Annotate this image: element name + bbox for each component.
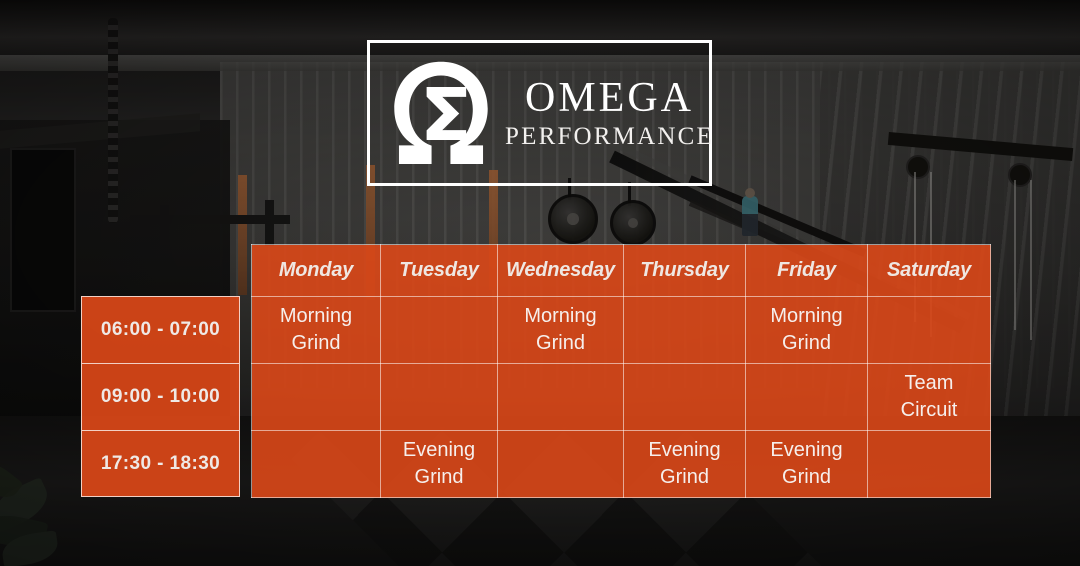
day-header-thursday: Thursday: [624, 245, 746, 297]
day-header-friday: Friday: [746, 245, 868, 297]
day-header-monday: Monday: [252, 245, 381, 297]
time-slot-cell: 06:00 - 07:00: [81, 296, 240, 363]
schedule-cell: Team Circuit: [868, 364, 991, 431]
schedule-cell: Evening Grind: [381, 431, 498, 498]
class-name: Morning Grind: [252, 303, 380, 357]
schedule-cell: Morning Grind: [252, 297, 381, 364]
class-name: Morning Grind: [746, 303, 867, 357]
time-slot-cell: 09:00 - 10:00: [81, 363, 240, 430]
schedule-cell: [252, 431, 381, 498]
schedule-cell: Evening Grind: [746, 431, 868, 498]
brand-name: OMEGA: [525, 77, 694, 119]
omega-sigma-icon: [387, 60, 495, 166]
table-row: Evening Grind Evening Grind Evening Grin…: [252, 431, 991, 498]
table-header-row: Monday Tuesday Wednesday Thursday Friday…: [252, 245, 991, 297]
class-schedule-table: Monday Tuesday Wednesday Thursday Friday…: [251, 244, 991, 498]
schedule-cell: [252, 364, 381, 431]
day-header-saturday: Saturday: [868, 245, 991, 297]
time-slot-cell: 17:30 - 18:30: [81, 430, 240, 497]
poster-canvas: OMEGA PERFORMANCE 06:00 - 07:00 09:00 - …: [0, 0, 1080, 566]
schedule-cell: Morning Grind: [498, 297, 624, 364]
class-name: Evening Grind: [624, 437, 745, 491]
table-row: Team Circuit: [252, 364, 991, 431]
class-name: Morning Grind: [498, 303, 623, 357]
schedule-cell: [868, 297, 991, 364]
time-slot-column: 06:00 - 07:00 09:00 - 10:00 17:30 - 18:3…: [81, 296, 240, 497]
day-header-tuesday: Tuesday: [381, 245, 498, 297]
day-header-wednesday: Wednesday: [498, 245, 624, 297]
schedule-cell: Morning Grind: [746, 297, 868, 364]
class-name: Evening Grind: [746, 437, 867, 491]
brand-logo-frame: OMEGA PERFORMANCE: [367, 40, 712, 186]
schedule-cell: [381, 364, 498, 431]
class-name: Evening Grind: [381, 437, 497, 491]
schedule-cell: [624, 364, 746, 431]
schedule-cell: Evening Grind: [624, 431, 746, 498]
schedule-cell: [498, 431, 624, 498]
schedule-cell: [624, 297, 746, 364]
schedule-cell: [381, 297, 498, 364]
class-name: Team Circuit: [868, 370, 990, 424]
schedule-cell: [746, 364, 868, 431]
schedule-cell: [498, 364, 624, 431]
table-row: Morning Grind Morning Grind Morning Grin…: [252, 297, 991, 364]
schedule-cell: [868, 431, 991, 498]
brand-tagline: PERFORMANCE: [505, 124, 714, 149]
